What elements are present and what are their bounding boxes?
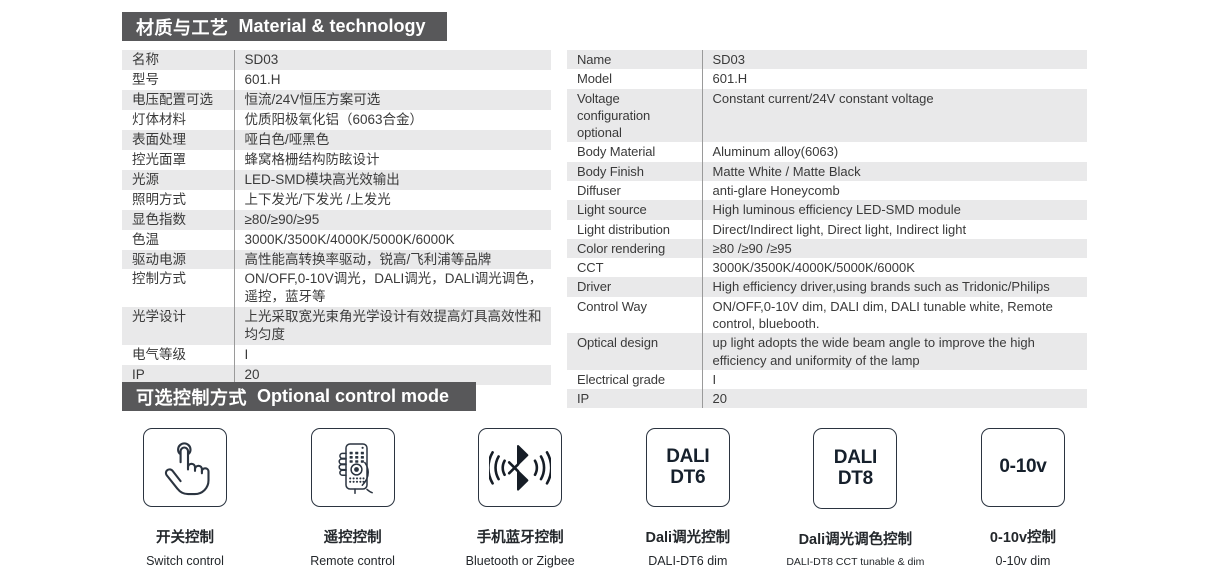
control-mode-label-en: Bluetooth or Zigbee <box>466 554 575 568</box>
dali-dt8-icon[interactable]: DALIDT8 <box>813 428 897 509</box>
control-mode-card-text: DALIDT8 <box>834 448 877 488</box>
control-mode-label-en: 0-10v dim <box>996 554 1051 568</box>
spec-value: I <box>234 345 551 365</box>
spec-value: 3000K/3500K/4000K/5000K/6000K <box>702 258 1087 277</box>
dali-dt6-icon[interactable]: DALIDT6 <box>646 428 730 507</box>
spec-key: 电气等级 <box>122 345 234 365</box>
spec-key: 灯体材料 <box>122 110 234 130</box>
control-mode-item[interactable]: 0-10v0-10v控制0-10v dim <box>948 428 1098 568</box>
spec-value: 蜂窝格栅结构防眩设计 <box>234 150 551 170</box>
spec-value: I <box>702 370 1087 389</box>
spec-value: 3000K/3500K/4000K/5000K/6000K <box>234 230 551 250</box>
control-mode-label-en: Switch control <box>146 554 224 568</box>
table-row: CCT3000K/3500K/4000K/5000K/6000K <box>567 258 1087 277</box>
spec-key: 名称 <box>122 50 234 70</box>
spec-value: 601.H <box>702 69 1087 88</box>
spec-key: CCT <box>567 258 702 277</box>
spec-key: Voltage configuration optional <box>567 89 702 143</box>
spec-value: 高性能高转换率驱动，锐高/飞利浦等品牌 <box>234 250 551 270</box>
spec-value: Direct/Indirect light, Direct light, Ind… <box>702 220 1087 239</box>
spec-key: 控光面罩 <box>122 150 234 170</box>
spec-value: SD03 <box>234 50 551 70</box>
spec-key: Light distribution <box>567 220 702 239</box>
spec-value: LED-SMD模块高光效输出 <box>234 170 551 190</box>
table-row: 电压配置可选恒流/24V恒压方案可选 <box>122 90 551 110</box>
control-mode-label-cn: 遥控控制 <box>324 526 382 547</box>
zero-to-ten-volt-icon[interactable]: 0-10v <box>981 428 1065 507</box>
spec-key: 驱动电源 <box>122 250 234 270</box>
spec-value: High efficiency driver,using brands such… <box>702 277 1087 296</box>
table-row: 灯体材料优质阳极氧化铝（6063合金） <box>122 110 551 130</box>
spec-value: up light adopts the wide beam angle to i… <box>702 333 1087 370</box>
spec-key: Control Way <box>567 297 702 334</box>
table-row: Body MaterialAluminum alloy(6063) <box>567 142 1087 161</box>
spec-value: anti-glare Honeycomb <box>702 181 1087 200</box>
spec-value: 20 <box>702 389 1087 408</box>
spec-value: 优质阳极氧化铝（6063合金） <box>234 110 551 130</box>
table-row: Voltage configuration optionalConstant c… <box>567 89 1087 143</box>
spec-value: ≥80/≥90/≥95 <box>234 210 551 230</box>
spec-value: 哑白色/哑黑色 <box>234 130 551 150</box>
table-row: 光学设计上光采取宽光束角光学设计有效提高灯具高效性和均匀度 <box>122 307 551 345</box>
table-row: 控制方式ON/OFF,0-10V调光，DALI调光，DALI调光调色，遥控，蓝牙… <box>122 269 551 307</box>
table-row: 控光面罩蜂窝格栅结构防眩设计 <box>122 150 551 170</box>
spec-key: 色温 <box>122 230 234 250</box>
table-row: 显色指数≥80/≥90/≥95 <box>122 210 551 230</box>
spec-value: ON/OFF,0-10V dim, DALI dim, DALI tunable… <box>702 297 1087 334</box>
section-header-control-mode-en: Optional control mode <box>257 386 449 407</box>
spec-key: 控制方式 <box>122 269 234 307</box>
table-row: Diffuseranti-glare Honeycomb <box>567 181 1087 200</box>
table-row: 色温3000K/3500K/4000K/5000K/6000K <box>122 230 551 250</box>
spec-table-chinese: 名称SD03型号601.H电压配置可选恒流/24V恒压方案可选灯体材料优质阳极氧… <box>122 50 551 385</box>
control-mode-label-en: Remote control <box>310 554 395 568</box>
spec-key: 显色指数 <box>122 210 234 230</box>
control-mode-label-cn: 0-10v控制 <box>990 526 1056 547</box>
control-mode-label-en: DALI-DT8 CCT tunable & dim <box>786 556 924 568</box>
control-mode-label-en: DALI-DT6 dim <box>648 554 727 568</box>
spec-key: 光学设计 <box>122 307 234 345</box>
spec-key: Body Material <box>567 142 702 161</box>
control-mode-item[interactable]: DALIDT6Dali调光控制DALI-DT6 dim <box>613 428 763 568</box>
spec-key: Diffuser <box>567 181 702 200</box>
spec-value: SD03 <box>702 50 1087 69</box>
control-mode-item[interactable]: 遥控控制Remote control <box>278 428 428 568</box>
spec-key: Model <box>567 69 702 88</box>
spec-value: 恒流/24V恒压方案可选 <box>234 90 551 110</box>
control-mode-label-cn: 手机蓝牙控制 <box>477 526 564 547</box>
touch-hand-icon[interactable] <box>143 428 227 507</box>
control-mode-item[interactable]: 手机蓝牙控制Bluetooth or Zigbee <box>445 428 595 568</box>
section-header-control-mode-cn: 可选控制方式 <box>136 384 247 410</box>
spec-key: 电压配置可选 <box>122 90 234 110</box>
table-row: 名称SD03 <box>122 50 551 70</box>
table-row: 电气等级I <box>122 345 551 365</box>
spec-value: Aluminum alloy(6063) <box>702 142 1087 161</box>
table-row: Light sourceHigh luminous efficiency LED… <box>567 200 1087 219</box>
table-row: IP20 <box>567 389 1087 408</box>
spec-key: IP <box>567 389 702 408</box>
spec-key: Name <box>567 50 702 69</box>
table-row: 型号601.H <box>122 70 551 90</box>
control-mode-label-cn: 开关控制 <box>156 526 214 547</box>
control-mode-label-cn: Dali调光调色控制 <box>799 528 913 549</box>
control-mode-list: 开关控制Switch control <box>110 428 1098 568</box>
spec-value: ON/OFF,0-10V调光，DALI调光，DALI调光调色，遥控，蓝牙等 <box>234 269 551 307</box>
section-header-material-en: Material & technology <box>239 16 426 37</box>
spec-key: Color rendering <box>567 239 702 258</box>
spec-key: Light source <box>567 200 702 219</box>
control-mode-card-text: DALIDT6 <box>666 447 709 487</box>
table-row: Electrical gradeI <box>567 370 1087 389</box>
spec-key: 光源 <box>122 170 234 190</box>
table-row: 驱动电源高性能高转换率驱动，锐高/飞利浦等品牌 <box>122 250 551 270</box>
section-header-material: 材质与工艺 Material & technology <box>122 12 447 41</box>
control-mode-item[interactable]: DALIDT8Dali调光调色控制DALI-DT8 CCT tunable & … <box>780 428 930 568</box>
spec-value: 上光采取宽光束角光学设计有效提高灯具高效性和均匀度 <box>234 307 551 345</box>
table-row: Optical designup light adopts the wide b… <box>567 333 1087 370</box>
spec-value: ≥80 /≥90 /≥95 <box>702 239 1087 258</box>
spec-value: 601.H <box>234 70 551 90</box>
table-row: Model601.H <box>567 69 1087 88</box>
section-header-control-mode: 可选控制方式 Optional control mode <box>122 382 476 411</box>
spec-key: Body Finish <box>567 162 702 181</box>
table-row: 光源LED-SMD模块高光效输出 <box>122 170 551 190</box>
section-header-material-cn: 材质与工艺 <box>136 14 229 40</box>
spec-value: High luminous efficiency LED-SMD module <box>702 200 1087 219</box>
spec-key: 照明方式 <box>122 190 234 210</box>
table-row: Light distributionDirect/Indirect light,… <box>567 220 1087 239</box>
spec-value: 上下发光/下发光 /上发光 <box>234 190 551 210</box>
spec-key: 型号 <box>122 70 234 90</box>
table-row: 表面处理哑白色/哑黑色 <box>122 130 551 150</box>
spec-value: Matte White / Matte Black <box>702 162 1087 181</box>
control-mode-label-cn: Dali调光控制 <box>645 526 730 547</box>
table-row: Control WayON/OFF,0-10V dim, DALI dim, D… <box>567 297 1087 334</box>
spec-key-text: Voltage configuration optional <box>577 90 696 142</box>
spec-key: 表面处理 <box>122 130 234 150</box>
control-mode-item[interactable]: 开关控制Switch control <box>110 428 260 568</box>
spec-value: Constant current/24V constant voltage <box>702 89 1087 143</box>
table-row: Color rendering≥80 /≥90 /≥95 <box>567 239 1087 258</box>
table-row: Body FinishMatte White / Matte Black <box>567 162 1087 181</box>
spec-key: Electrical grade <box>567 370 702 389</box>
table-row: 照明方式上下发光/下发光 /上发光 <box>122 190 551 210</box>
table-row: NameSD03 <box>567 50 1087 69</box>
control-mode-card-text: 0-10v <box>999 457 1046 477</box>
spec-table-english: NameSD03Model601.HVoltage configuration … <box>567 50 1087 408</box>
table-row: DriverHigh efficiency driver,using brand… <box>567 277 1087 296</box>
spec-key: Driver <box>567 277 702 296</box>
bluetooth-icon[interactable] <box>478 428 562 507</box>
spec-key: Optical design <box>567 333 702 370</box>
remote-control-icon[interactable] <box>311 428 395 507</box>
